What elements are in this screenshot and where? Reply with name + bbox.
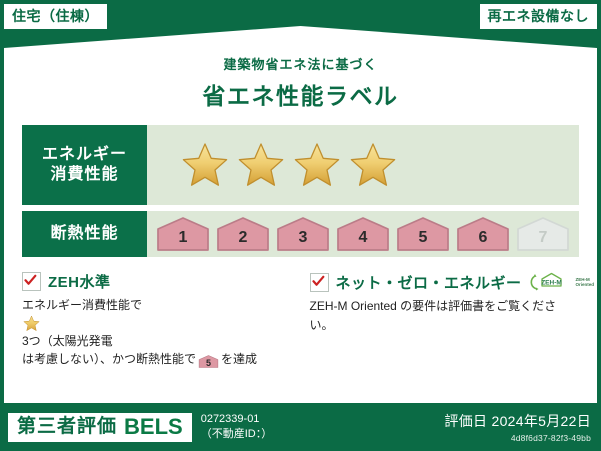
renewable-energy-tag: 再エネ設備なし [480,4,598,29]
check-icon [24,274,37,287]
star-icon [23,315,40,332]
evaluation-date: 評価日 2024年5月22日 [444,411,591,431]
zeh-body-part2: は考慮しない）、かつ断熱性能で [22,352,196,366]
row-insulation-performance: 断熱性能 1234567 [22,211,579,257]
row-energy-performance: エネルギー 消費性能 [22,125,579,205]
star-icon [349,141,397,189]
house-number: 5 [419,230,428,252]
house-badge: 7 [515,216,571,252]
house-badge: 5 [395,216,451,252]
label-panel: 建築物省エネ法に基づく 省エネ性能ラベル エネルギー 消費性能 [4,26,597,403]
insulation-performance-value: 1234567 [147,211,579,257]
star-icon [293,141,341,189]
zeh-body-part1: エネルギー消費性能で [22,298,142,312]
house-number: 7 [539,230,548,252]
bels-badge: 第三者評価 BELS [8,413,192,442]
energy-performance-value [147,125,579,205]
house-rating-scale: 1234567 [155,216,571,252]
certificate-number: 0272339-01 [201,412,273,427]
note-net-zero-energy: ネット・ゼロ・エネルギー ZEH-M ZEH-M Oriented [310,271,580,369]
page-title: 省エネ性能ラベル [22,77,579,111]
energy-key-line1: エネルギー [42,146,127,163]
zeh-standard-header: ZEH水準 [22,271,292,292]
label-subtitle: 建築物省エネ法に基づく [22,54,579,73]
inline-house-badge: 5 [198,354,219,369]
zeh-standard-checkbox[interactable] [22,272,41,291]
inline-house-number: 5 [206,359,211,369]
check-icon [312,275,325,288]
third-party-evaluation-label: 第三者評価 [17,417,117,436]
insulation-performance-label-key: 断熱性能 [22,211,147,257]
zeh-standard-body: エネルギー消費性能で3つ（太陽光発電は考慮しない）、かつ断熱性能で5を達成 [22,296,292,369]
house-badge: 6 [455,216,511,252]
energy-performance-label-key: エネルギー 消費性能 [22,125,147,205]
document-hash: 4d8f6d37-82f3-49bb [444,433,591,443]
star-icon [181,141,229,189]
notes-section: ZEH水準 エネルギー消費性能で3つ（太陽光発電は考慮しない）、かつ断熱性能で5… [22,271,579,369]
energy-key-line2: 消費性能 [50,166,118,183]
svg-text:ZEH-M: ZEH-M [541,280,562,287]
house-badge: 2 [215,216,271,252]
net-zero-energy-header: ネット・ゼロ・エネルギー ZEH-M ZEH-M Oriented [310,271,580,293]
star-icon [237,141,285,189]
label-footer: 第三者評価 BELS 0272339-01 （不動産ID：） 評価日 2024年… [0,403,601,451]
house-badge: 3 [275,216,331,252]
zeh-body-part3: を達成 [221,352,257,366]
energy-performance-label: 住宅（住棟） 再エネ設備なし 建築物省エネ法に基づく 省エネ性能ラベル エネルギ… [0,0,601,451]
net-zero-energy-title: ネット・ゼロ・エネルギー [336,272,522,293]
house-number: 1 [179,230,188,252]
house-number: 4 [359,230,368,252]
performance-rows: エネルギー 消費性能 断熱性能 1234567 [22,125,579,257]
house-number: 6 [479,230,488,252]
star-rating [181,141,397,189]
zeh-m-logo-caption: ZEH-M Oriented [576,277,595,287]
house-badge: 4 [335,216,391,252]
zeh-standard-title: ZEH水準 [48,271,111,292]
house-number: 3 [299,230,308,252]
certificate-info: 0272339-01 （不動産ID：） [201,412,273,442]
net-zero-energy-checkbox[interactable] [310,273,329,292]
zeh-m-caption-line2: Oriented [576,282,595,287]
building-type-tag: 住宅（住棟） [4,4,107,29]
house-badge: 1 [155,216,211,252]
footer-right-info: 評価日 2024年5月22日 4d8f6d37-82f3-49bb [444,411,591,443]
zeh-m-logo-icon: ZEH-M [529,271,569,293]
bels-wordmark: BELS [124,416,183,438]
net-zero-energy-body: ZEH-M Oriented の要件は評価書をご覧ください。 [310,297,580,334]
house-number: 2 [239,230,248,252]
zeh-body-star-count: 3つ（太陽光発電 [22,334,113,348]
note-zeh-standard: ZEH水準 エネルギー消費性能で3つ（太陽光発電は考慮しない）、かつ断熱性能で5… [22,271,292,369]
real-estate-id: （不動産ID：） [201,427,273,442]
